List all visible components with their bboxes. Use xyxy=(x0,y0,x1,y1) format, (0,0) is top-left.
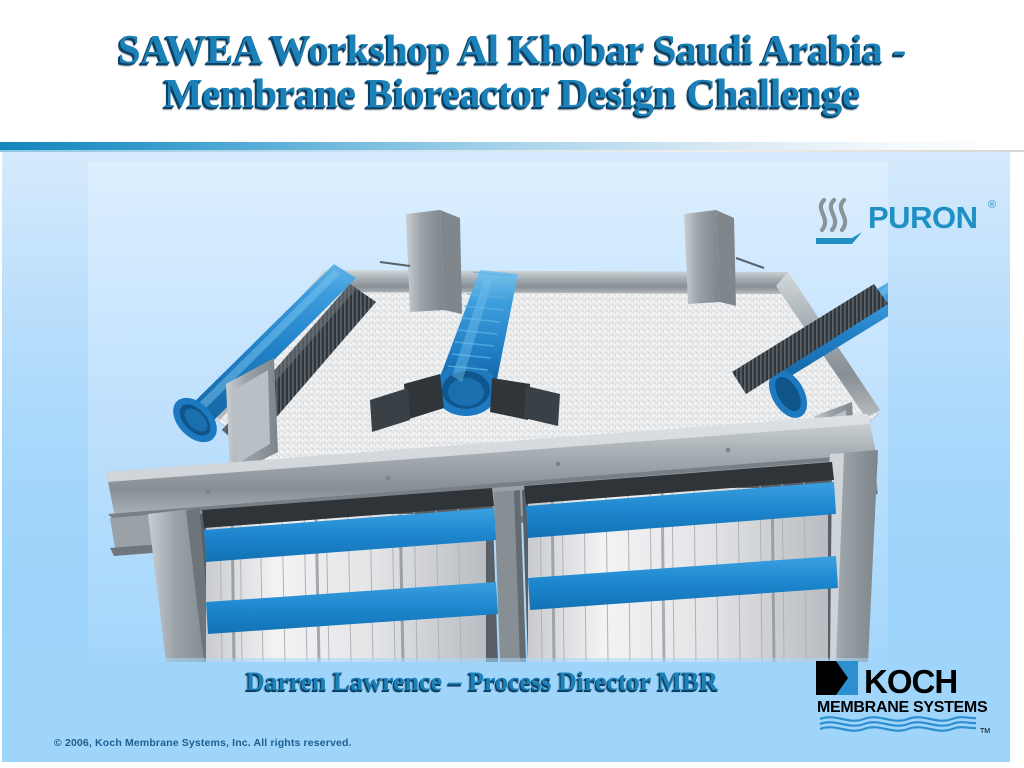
title-area: SAWEA Workshop Al Khobar Saudi Arabia - … xyxy=(0,0,1024,142)
koch-arrow-mark xyxy=(816,661,858,695)
puron-logo: PURON ® xyxy=(810,192,1010,254)
puron-fiber-mark xyxy=(816,200,862,244)
page-title: SAWEA Workshop Al Khobar Saudi Arabia - … xyxy=(62,27,962,116)
membrane-module-photo xyxy=(88,162,888,662)
puron-wordmark: PURON xyxy=(868,200,977,235)
puron-registered-icon: ® xyxy=(988,199,996,211)
koch-wordmark: KOCH xyxy=(864,663,957,700)
koch-trademark-icon: TM xyxy=(980,728,990,735)
copyright-notice: © 2006, Koch Membrane Systems, Inc. All … xyxy=(54,737,352,749)
koch-wave-icon xyxy=(820,717,976,731)
presenter-name: Darren Lawrence – Process Director MBR xyxy=(152,667,812,697)
koch-tagline: MEMBRANE SYSTEMS xyxy=(817,699,988,716)
koch-logo: KOCH MEMBRANE SYSTEMS TM xyxy=(814,657,992,735)
slide: SAWEA Workshop Al Khobar Saudi Arabia - … xyxy=(0,0,1024,768)
content-panel: PURON ® Darren Lawrence – Process Direct… xyxy=(2,152,1010,762)
